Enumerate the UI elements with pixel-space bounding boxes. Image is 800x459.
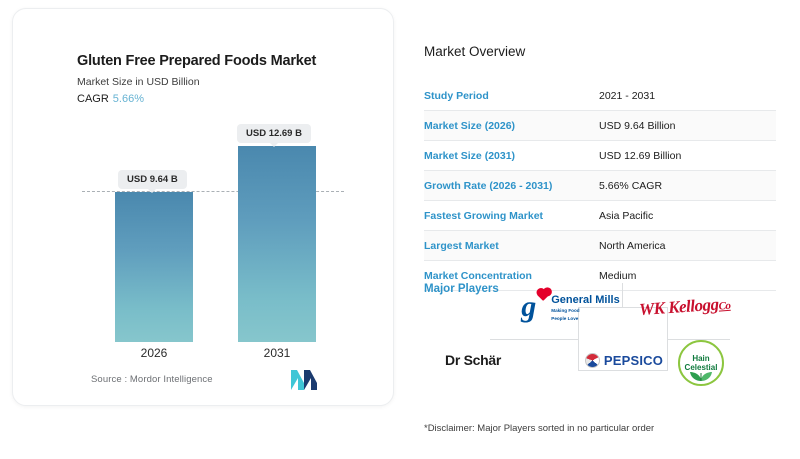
source-text: Source : Mordor Intelligence [91, 374, 213, 385]
kellogg-wordmark: WK Kellogg [639, 295, 720, 320]
hain-line-1: Hain [692, 355, 709, 363]
pepsico-wordmark: PEPSICO [604, 353, 663, 368]
bar-chart-plot: USD 9.64 B USD 12.69 B 2026 2031 [14, 114, 394, 349]
row-value: Asia Pacific [599, 201, 776, 231]
market-summary-infographic: Gluten Free Prepared Foods Market Market… [0, 0, 800, 459]
cagr-label: CAGR [77, 93, 109, 105]
row-key: Largest Market [424, 231, 599, 261]
row-key: Market Size (2026) [424, 111, 599, 141]
dr-schaer-wordmark: Dr Schär [445, 352, 501, 368]
row-value: USD 12.69 Billion [599, 141, 776, 171]
market-overview-panel: Market Overview Study Period 2021 - 2031… [424, 44, 776, 291]
row-key: Growth Rate (2026 - 2031) [424, 171, 599, 201]
logo-hain-celestial: Hain Celestial [675, 338, 727, 388]
row-key: Fastest Growing Market [424, 201, 599, 231]
table-row: Market Size (2026) USD 9.64 Billion [424, 111, 776, 141]
table-row: Market Size (2031) USD 12.69 Billion [424, 141, 776, 171]
logo-dr-schaer: Dr Schär [423, 345, 523, 375]
table-row: Growth Rate (2026 - 2031) 5.66% CAGR [424, 171, 776, 201]
leaf-icon [689, 369, 713, 381]
x-tick-2031: 2031 [238, 346, 316, 360]
mordor-intelligence-logo [291, 370, 317, 390]
grid-divider [490, 339, 578, 340]
row-value: USD 9.64 Billion [599, 111, 776, 141]
general-mills-tagline-2: People Love [551, 316, 619, 321]
row-key: Study Period [424, 81, 599, 111]
chart-card: Gluten Free Prepared Foods Market Market… [12, 8, 394, 406]
disclaimer-text: *Disclaimer: Major Players sorted in no … [424, 423, 654, 434]
bar-2026 [115, 192, 193, 342]
page-title: Gluten Free Prepared Foods Market [77, 53, 316, 69]
bar-label-2026: USD 9.64 B [118, 170, 187, 189]
bar-label-2031: USD 12.69 B [237, 124, 311, 143]
cagr-row: CAGR5.66% [77, 93, 144, 105]
general-mills-name: General Mills [551, 295, 619, 306]
cagr-value: 5.66% [113, 93, 144, 105]
hain-celestial-badge: Hain Celestial [678, 340, 724, 386]
market-overview-table: Study Period 2021 - 2031 Market Size (20… [424, 81, 776, 291]
chart-subtitle: Market Size in USD Billion [77, 76, 200, 88]
major-players-title: Major Players [424, 283, 499, 295]
general-mills-tagline-1: Making Food [551, 308, 619, 313]
table-row: Study Period 2021 - 2031 [424, 81, 776, 111]
row-value: 5.66% CAGR [599, 171, 776, 201]
bar-2031 [238, 146, 316, 342]
logo-pepsico: PEPSICO [579, 345, 669, 375]
logo-general-mills: g General Mills Making Food People Love [513, 285, 628, 331]
logo-wk-kellogg-co: WK KelloggCo [635, 289, 735, 325]
kellogg-co-suffix: Co [718, 300, 731, 313]
row-value: 2021 - 2031 [599, 81, 776, 111]
general-mills-g-icon: g [521, 293, 547, 323]
row-key: Market Size (2031) [424, 141, 599, 171]
row-value: North America [599, 231, 776, 261]
overview-title: Market Overview [424, 44, 776, 59]
heart-icon [538, 289, 550, 301]
table-row: Fastest Growing Market Asia Pacific [424, 201, 776, 231]
x-tick-2026: 2026 [115, 346, 193, 360]
major-players-logo-grid: g General Mills Making Food People Love … [505, 283, 735, 393]
table-row: Largest Market North America [424, 231, 776, 261]
pepsico-globe-icon [585, 353, 600, 368]
kellogg-script: WK KelloggCo [639, 294, 732, 320]
